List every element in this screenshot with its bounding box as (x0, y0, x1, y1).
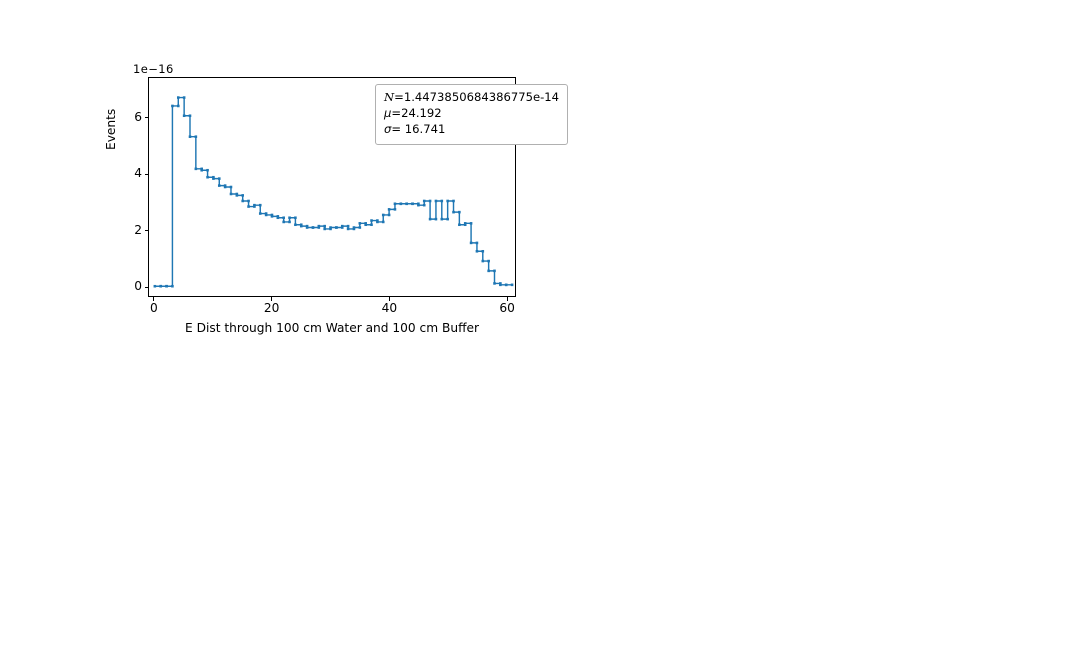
data-point-marker (218, 184, 221, 187)
data-point-marker (282, 216, 285, 219)
data-point-marker (341, 225, 344, 228)
data-point-marker (171, 285, 174, 288)
data-point-marker (265, 214, 268, 217)
data-point-marker (505, 284, 508, 287)
data-point-marker (282, 221, 285, 224)
x-tick-label: 60 (487, 301, 527, 315)
data-point-marker (476, 250, 479, 253)
data-point-marker (300, 225, 303, 228)
stats-sigma-line: σ= 16.741 (384, 122, 559, 138)
data-point-marker (493, 282, 496, 285)
data-point-marker (236, 194, 239, 197)
data-point-marker (441, 200, 444, 203)
data-point-marker (277, 216, 280, 219)
data-point-marker (370, 219, 373, 222)
data-point-marker (470, 242, 473, 245)
data-point-marker (487, 260, 490, 263)
data-point-marker (464, 222, 467, 225)
y-tick-label: 4 (134, 166, 142, 180)
data-point-marker (394, 208, 397, 211)
data-point-marker (177, 105, 180, 108)
data-point-marker (435, 200, 438, 203)
data-point-marker (359, 222, 362, 225)
data-point-marker (312, 226, 315, 229)
data-point-marker (458, 223, 461, 226)
data-point-marker (364, 223, 367, 226)
data-point-marker (435, 218, 438, 221)
stats-n-symbol: N (384, 90, 394, 104)
data-point-marker (241, 200, 244, 203)
data-point-marker (183, 114, 186, 117)
data-point-marker (441, 218, 444, 221)
data-point-marker (259, 212, 262, 215)
data-point-marker (370, 223, 373, 226)
data-point-marker (183, 96, 186, 99)
data-point-marker (452, 211, 455, 214)
data-point-marker (247, 205, 250, 208)
data-point-marker (154, 285, 157, 288)
data-point-marker (347, 228, 350, 231)
data-point-marker (458, 211, 461, 214)
data-point-marker (318, 225, 321, 228)
x-tick-label: 0 (134, 301, 174, 315)
data-point-marker (294, 223, 297, 226)
data-point-marker (294, 216, 297, 219)
data-point-marker (511, 284, 514, 287)
data-point-marker (230, 186, 233, 189)
data-point-marker (411, 202, 414, 205)
x-axis-label: E Dist through 100 cm Water and 100 cm B… (148, 321, 516, 335)
data-point-marker (195, 135, 198, 138)
y-tick-label: 0 (134, 279, 142, 293)
data-point-marker (446, 200, 449, 203)
data-point-marker (259, 204, 262, 207)
data-point-marker (159, 285, 162, 288)
data-point-marker (376, 221, 379, 224)
y-axis-offset-text: 1e−16 (133, 62, 174, 76)
data-point-marker (470, 222, 473, 225)
data-point-marker (271, 215, 274, 218)
data-point-marker (476, 242, 479, 245)
data-point-marker (323, 228, 326, 231)
y-axis-label: Events (104, 109, 118, 150)
data-point-marker (200, 169, 203, 172)
data-point-marker (423, 204, 426, 207)
data-point-marker (306, 226, 309, 229)
data-point-marker (329, 226, 332, 229)
data-point-marker (288, 216, 291, 219)
data-point-marker (224, 186, 227, 189)
data-point-marker (218, 177, 221, 180)
data-point-marker (482, 250, 485, 253)
data-point-marker (388, 214, 391, 217)
data-point-marker (241, 194, 244, 197)
data-point-marker (288, 221, 291, 224)
data-point-marker (189, 114, 192, 117)
y-tick-label: 6 (134, 110, 142, 124)
data-point-marker (335, 226, 338, 229)
data-point-marker (195, 168, 198, 171)
data-point-marker (165, 285, 168, 288)
data-point-marker (482, 260, 485, 263)
data-point-marker (429, 200, 432, 203)
stats-n-value: =1.4473850684386775e-14 (394, 90, 559, 104)
data-point-marker (189, 135, 192, 138)
data-point-marker (359, 226, 362, 229)
data-point-marker (499, 284, 502, 287)
stats-mu-line: μ=24.192 (384, 106, 559, 122)
data-point-marker (394, 202, 397, 205)
stats-sigma-value: = 16.741 (391, 122, 445, 136)
data-point-marker (487, 270, 490, 273)
data-point-marker (493, 270, 496, 273)
stats-mu-value: =24.192 (391, 106, 441, 120)
data-point-marker (382, 214, 385, 217)
data-point-marker (400, 202, 403, 205)
matplotlib-figure: 1e−16 Events E Dist through 100 cm Water… (0, 0, 1080, 648)
data-point-marker (347, 225, 350, 228)
stats-n-line: N=1.4473850684386775e-14 (384, 90, 559, 106)
x-tick-label: 40 (369, 301, 409, 315)
data-point-marker (452, 200, 455, 203)
data-point-marker (417, 204, 420, 207)
x-tick-label: 20 (252, 301, 292, 315)
data-point-marker (247, 200, 250, 203)
data-point-marker (405, 202, 408, 205)
data-point-marker (388, 208, 391, 211)
data-point-marker (446, 218, 449, 221)
data-point-marker (177, 96, 180, 99)
data-point-marker (206, 176, 209, 179)
data-point-marker (353, 226, 356, 229)
stats-annotation-box: N=1.4473850684386775e-14 μ=24.192 σ= 16.… (375, 84, 568, 145)
data-point-marker (423, 200, 426, 203)
data-point-marker (253, 204, 256, 207)
data-point-marker (171, 105, 174, 108)
data-point-marker (382, 221, 385, 224)
data-point-marker (212, 177, 215, 180)
data-point-marker (230, 193, 233, 196)
y-tick-label: 2 (134, 223, 142, 237)
data-point-marker (323, 225, 326, 228)
data-point-marker (429, 218, 432, 221)
data-point-marker (206, 169, 209, 172)
